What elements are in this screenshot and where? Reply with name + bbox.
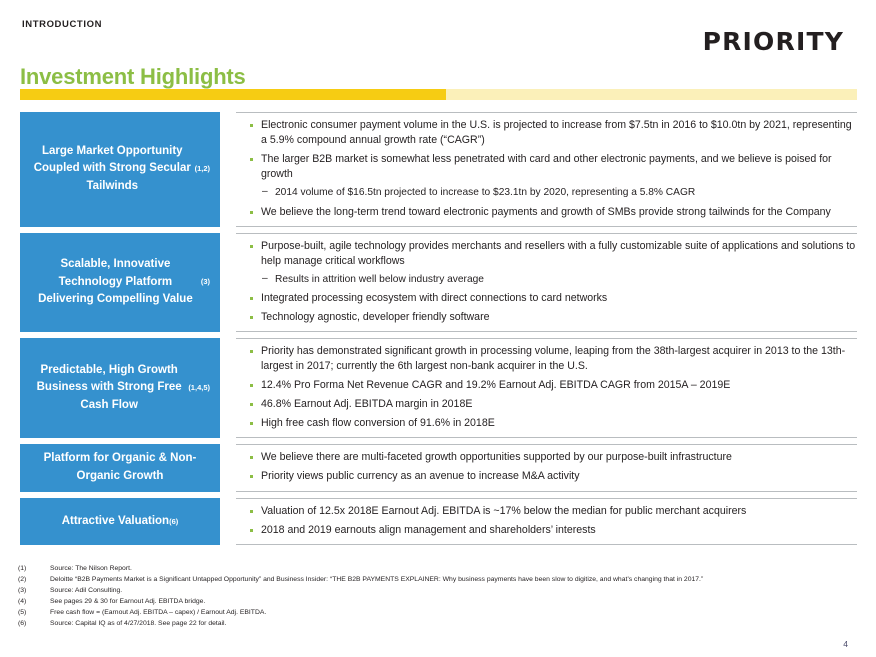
bullet-item: Priority has demonstrated significant gr… xyxy=(248,344,857,374)
highlight-label-box[interactable]: Large Market Opportunity Coupled with St… xyxy=(20,112,220,227)
highlight-row: Large Market Opportunity Coupled with St… xyxy=(20,112,857,227)
bullet-item: We believe the long-term trend toward el… xyxy=(248,205,857,220)
highlight-label-box[interactable]: Attractive Valuation(6) xyxy=(20,498,220,545)
bullet-list: Purpose-built, agile technology provides… xyxy=(248,239,857,326)
footnote-item: (6)Source: Capital IQ as of 4/27/2018. S… xyxy=(18,618,868,629)
footnote-text: Source: Capital IQ as of 4/27/2018. See … xyxy=(50,618,868,629)
footnote-item: (4)See pages 29 & 30 for Earnout Adj. EB… xyxy=(18,596,868,607)
bullet-list: Valuation of 12.5x 2018E Earnout Adj. EB… xyxy=(248,504,857,538)
highlight-row: Scalable, Innovative Technology Platform… xyxy=(20,233,857,333)
bullet-item: 46.8% Earnout Adj. EBITDA margin in 2018… xyxy=(248,397,857,412)
bullet-item: Purpose-built, agile technology provides… xyxy=(248,239,857,269)
highlight-content: Priority has demonstrated significant gr… xyxy=(236,338,857,438)
company-logo-wordmark: PRIORITY xyxy=(703,27,844,56)
bullet-item: Technology agnostic, developer friendly … xyxy=(248,310,857,325)
footnote-text: Source: Adil Consulting. xyxy=(50,585,868,596)
bullet-item: Priority views public currency as an ave… xyxy=(248,469,857,484)
highlight-label-box[interactable]: Platform for Organic & Non-Organic Growt… xyxy=(20,444,220,492)
highlight-label-text: Large Market Opportunity Coupled with St… xyxy=(30,143,195,196)
footnote-text: Deloitte “B2B Payments Market is a Signi… xyxy=(50,574,868,585)
footnote-item: (1)Source: The Nilson Report. xyxy=(18,563,868,574)
bullet-list: Electronic consumer payment volume in th… xyxy=(248,118,857,220)
sub-bullet-item: 2014 volume of $16.5tn projected to incr… xyxy=(248,186,857,200)
highlight-row: Attractive Valuation(6)Valuation of 12.5… xyxy=(20,498,857,545)
highlight-label-box[interactable]: Predictable, High Growth Business with S… xyxy=(20,338,220,438)
highlights-list: Large Market Opportunity Coupled with St… xyxy=(20,112,857,545)
footnote-text: See pages 29 & 30 for Earnout Adj. EBITD… xyxy=(50,596,868,607)
footnote-item: (3)Source: Adil Consulting. xyxy=(18,585,868,596)
bullet-item: Integrated processing ecosystem with dir… xyxy=(248,291,857,306)
footnote-number: (3) xyxy=(18,585,50,596)
highlight-row: Platform for Organic & Non-Organic Growt… xyxy=(20,444,857,492)
footnote-text: Free cash flow = (Earnout Adj. EBITDA – … xyxy=(50,607,868,618)
footnote-item: (2)Deloitte “B2B Payments Market is a Si… xyxy=(18,574,868,585)
highlight-label-box[interactable]: Scalable, Innovative Technology Platform… xyxy=(20,233,220,333)
highlight-content: Valuation of 12.5x 2018E Earnout Adj. EB… xyxy=(236,498,857,545)
slide: INTRODUCTION PRIORITY Investment Highlig… xyxy=(0,0,876,657)
title-underline-accent xyxy=(20,89,446,100)
footnote-number: (5) xyxy=(18,607,50,618)
bullet-list: We believe there are multi-faceted growt… xyxy=(248,450,857,484)
footnote-number: (6) xyxy=(18,618,50,629)
bullet-item: Electronic consumer payment volume in th… xyxy=(248,118,857,148)
highlight-label-text: Platform for Organic & Non-Organic Growt… xyxy=(30,450,210,486)
footnote-number: (2) xyxy=(18,574,50,585)
section-eyebrow: INTRODUCTION xyxy=(22,19,102,30)
bullet-item: 2018 and 2019 earnouts align management … xyxy=(248,523,857,538)
footnote-number: (4) xyxy=(18,596,50,607)
bullet-list: Priority has demonstrated significant gr… xyxy=(248,344,857,431)
bullet-item: The larger B2B market is somewhat less p… xyxy=(248,152,857,182)
title-underline-rule xyxy=(20,89,857,100)
bullet-item: 12.4% Pro Forma Net Revenue CAGR and 19.… xyxy=(248,378,857,393)
bullet-item: Valuation of 12.5x 2018E Earnout Adj. EB… xyxy=(248,504,857,519)
highlight-row: Predictable, High Growth Business with S… xyxy=(20,338,857,438)
bullet-item: High free cash flow conversion of 91.6% … xyxy=(248,416,857,431)
highlight-content: Electronic consumer payment volume in th… xyxy=(236,112,857,227)
highlight-content: We believe there are multi-faceted growt… xyxy=(236,444,857,492)
page-title: Investment Highlights xyxy=(20,64,246,90)
footnote-number: (1) xyxy=(18,563,50,574)
footnote-item: (5)Free cash flow = (Earnout Adj. EBITDA… xyxy=(18,607,868,618)
highlight-label-text: Scalable, Innovative Technology Platform… xyxy=(30,256,201,309)
bullet-item: We believe there are multi-faceted growt… xyxy=(248,450,857,465)
highlight-label-text: Predictable, High Growth Business with S… xyxy=(30,362,188,415)
sub-bullet-item: Results in attrition well below industry… xyxy=(248,273,857,287)
footnote-text: Source: The Nilson Report. xyxy=(50,563,868,574)
footnotes: (1)Source: The Nilson Report.(2)Deloitte… xyxy=(18,563,868,629)
highlight-label-text: Attractive Valuation xyxy=(62,513,169,531)
highlight-content: Purpose-built, agile technology provides… xyxy=(236,233,857,333)
page-number: 4 xyxy=(843,639,848,649)
